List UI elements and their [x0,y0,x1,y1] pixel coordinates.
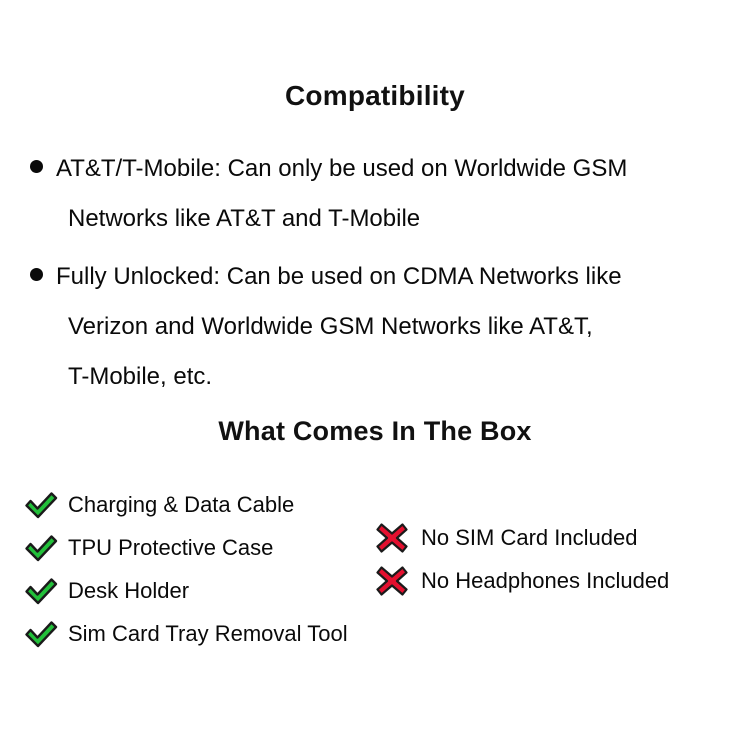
list-item: No SIM Card Included [375,516,669,559]
bullet-line: AT&T/T-Mobile: Can only be used on World… [30,144,730,194]
list-item: Desk Holder [22,569,348,612]
green-check-icon [22,529,62,567]
list-item: AT&T/T-Mobile: Can only be used on World… [30,144,730,244]
list-item: TPU Protective Case [22,526,348,569]
bullet-text: Fully Unlocked: Can be used on CDMA Netw… [56,263,622,290]
compatibility-bullet-list: AT&T/T-Mobile: Can only be used on World… [30,144,730,410]
bullet-line-continuation: T-Mobile, etc. [30,352,730,402]
bullet-dot-icon [30,160,43,173]
bullet-line-continuation: Networks like AT&T and T-Mobile [30,194,730,244]
item-label: Desk Holder [68,578,189,604]
green-check-icon [22,486,62,524]
red-cross-icon [375,519,415,557]
box-contents-lists: Charging & Data Cable TPU Protective Cas… [0,483,750,663]
item-label: Charging & Data Cable [68,492,294,518]
green-check-icon [22,615,62,653]
list-item: Fully Unlocked: Can be used on CDMA Netw… [30,252,730,402]
compatibility-heading: Compatibility [0,79,750,113]
box-contents-heading: What Comes In The Box [0,415,750,448]
bullet-line: Fully Unlocked: Can be used on CDMA Netw… [30,252,730,302]
included-items-list: Charging & Data Cable TPU Protective Cas… [22,483,348,655]
product-info-page: Compatibility AT&T/T-Mobile: Can only be… [0,0,750,750]
bullet-text: AT&T/T-Mobile: Can only be used on World… [56,155,627,182]
bullet-dot-icon [30,268,43,281]
green-check-icon [22,572,62,610]
list-item: Sim Card Tray Removal Tool [22,612,348,655]
list-item: Charging & Data Cable [22,483,348,526]
list-item: No Headphones Included [375,559,669,602]
item-label: TPU Protective Case [68,535,273,561]
item-label: No Headphones Included [421,568,669,594]
item-label: No SIM Card Included [421,525,637,551]
item-label: Sim Card Tray Removal Tool [68,621,348,647]
bullet-line-continuation: Verizon and Worldwide GSM Networks like … [30,302,730,352]
excluded-items-list: No SIM Card Included No Headphones Inclu… [375,516,669,602]
red-cross-icon [375,562,415,600]
